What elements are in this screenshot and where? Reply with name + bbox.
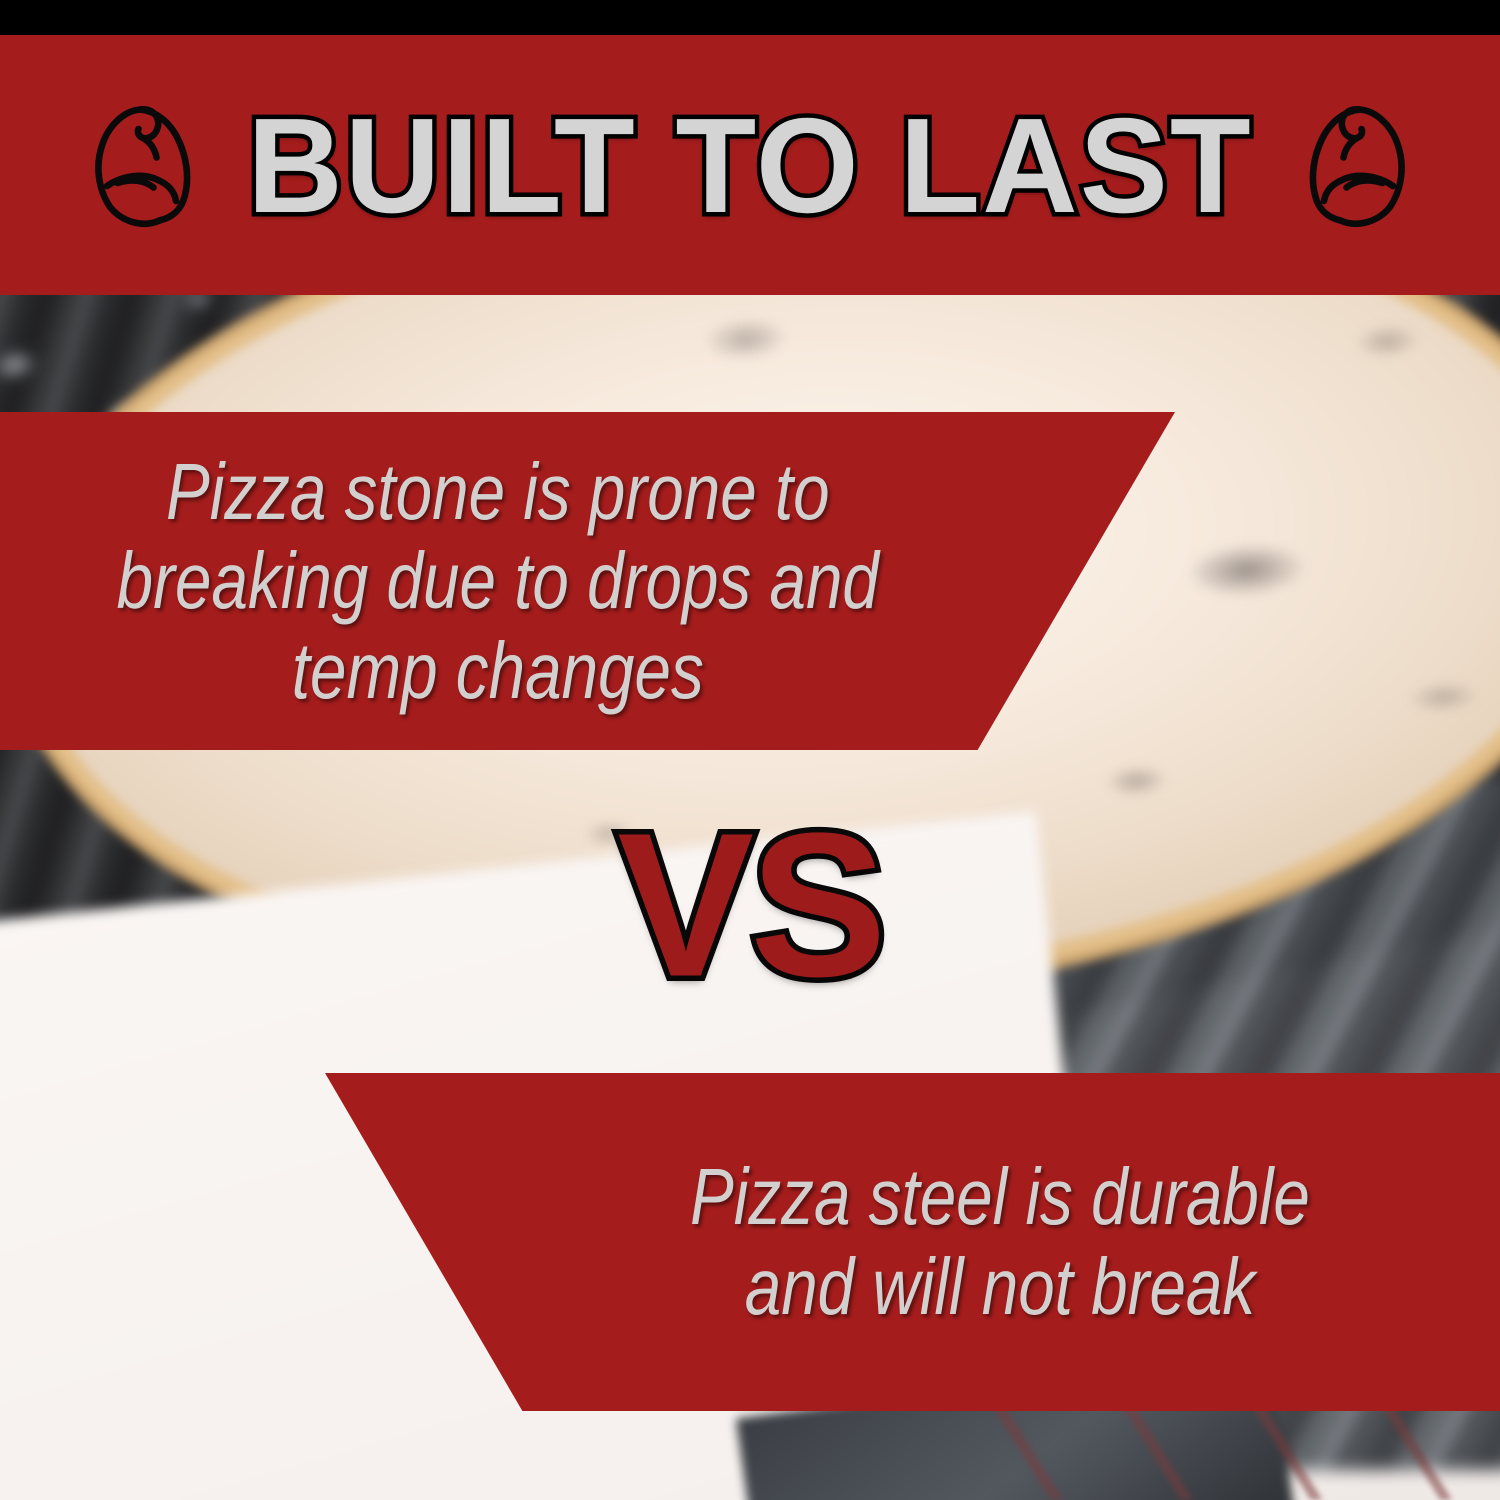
flexed-biceps-icon bbox=[77, 90, 227, 240]
pizza-stone-claim-banner: Pizza stone is prone to breaking due to … bbox=[0, 412, 1175, 750]
flexed-biceps-icon bbox=[1273, 90, 1423, 240]
pizza-stone-claim-text: Pizza stone is prone to breaking due to … bbox=[116, 447, 878, 716]
versus-label: VS bbox=[617, 803, 882, 1008]
header-banner: BUILT TO LAST bbox=[0, 35, 1500, 295]
page-title: BUILT TO LAST bbox=[247, 98, 1252, 233]
promo-graphic: BUILT TO LAST Pizza stone is prone to br… bbox=[0, 0, 1500, 1500]
top-black-strip bbox=[0, 0, 1500, 35]
pizza-steel-claim-banner: Pizza steel is durable and will not brea… bbox=[325, 1073, 1500, 1411]
pizza-steel-claim-text: Pizza steel is durable and will not brea… bbox=[690, 1152, 1310, 1331]
